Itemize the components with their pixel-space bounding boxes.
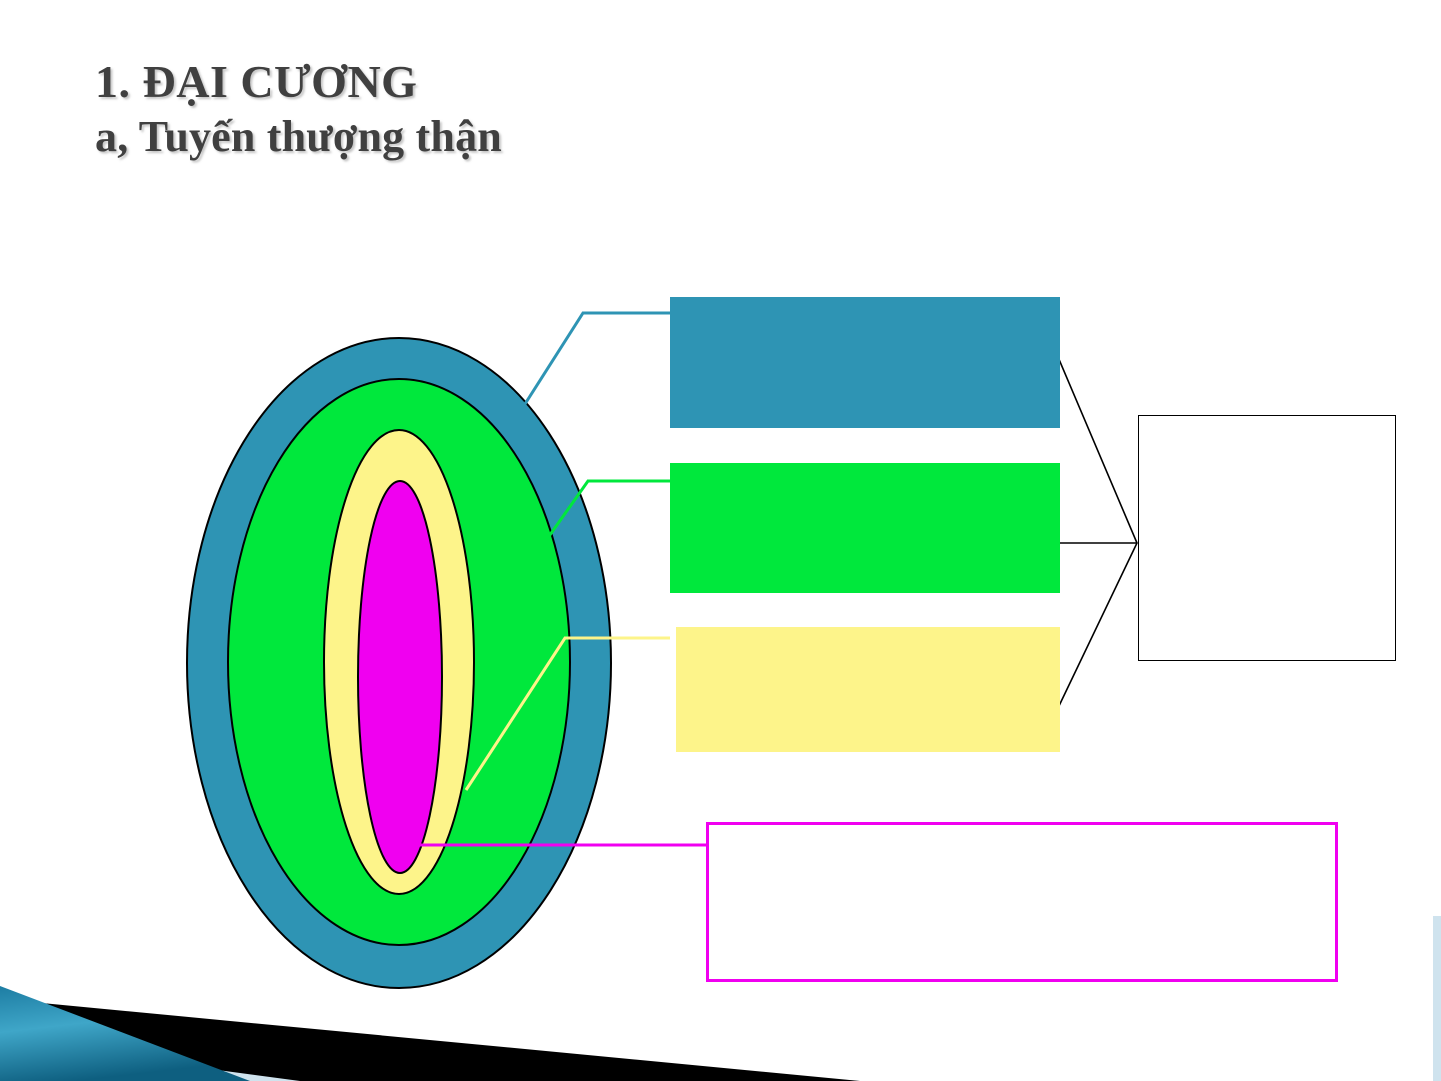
right-edge-accent [1433,916,1441,1081]
capsule-box[interactable] [670,297,1060,428]
slide-canvas: 1. ĐẠI CƯƠNG a, Tuyến thượng thận [0,0,1441,1081]
summary-box[interactable] [1138,415,1396,661]
zona-box[interactable] [676,627,1060,752]
medulla-box[interactable] [706,822,1338,982]
cortex-box[interactable] [670,463,1060,593]
medulla-ellipse [358,481,442,873]
capsule-connector [525,313,670,404]
brace-connector [1058,357,1137,708]
